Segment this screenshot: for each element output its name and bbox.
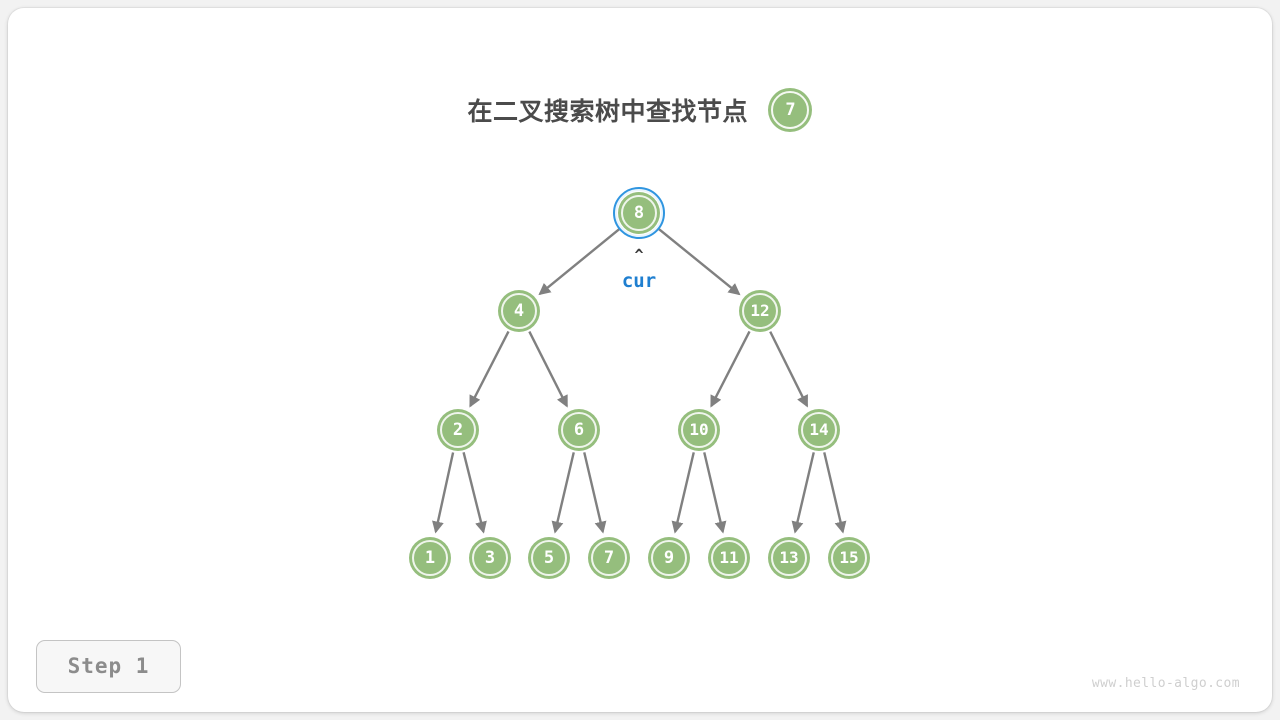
tree-edge <box>436 452 453 531</box>
diagram-canvas: 在二叉搜索树中查找节点 7 841226101413579111315 ^ cu… <box>0 0 1280 720</box>
tree-node-circle <box>469 537 511 579</box>
tree-edge <box>675 452 694 531</box>
tree-node: 10 <box>678 409 720 451</box>
page-title-text: 在二叉搜索树中查找节点 <box>468 97 749 126</box>
step-badge-label: Step 1 <box>37 641 180 692</box>
tree-edge <box>795 452 814 531</box>
tree-edge <box>704 452 723 531</box>
site-watermark: www.hello-algo.com <box>1000 676 1240 691</box>
tree-node: 1 <box>409 537 451 579</box>
tree-node-circle <box>798 409 840 451</box>
step-badge: Step 1 <box>36 640 181 693</box>
tree-node-circle <box>739 290 781 332</box>
target-value-badge: 7 <box>768 88 812 132</box>
tree-node-circle <box>618 192 660 234</box>
tree-node-circle <box>708 537 750 579</box>
tree-node-circle <box>828 537 870 579</box>
tree-edge <box>770 332 807 406</box>
tree-node-circle <box>558 409 600 451</box>
tree-edge <box>470 331 508 406</box>
tree-node-circle <box>409 537 451 579</box>
tree-node: 12 <box>739 290 781 332</box>
cur-caret: ^ <box>619 246 659 264</box>
tree-node: 15 <box>828 537 870 579</box>
cur-pointer-label: cur <box>609 270 669 292</box>
tree-edge <box>657 227 739 294</box>
tree-edge <box>584 452 603 531</box>
tree-node: 6 <box>558 409 600 451</box>
page-title: 在二叉搜索树中查找节点 7 <box>0 88 1280 132</box>
tree-node-circle <box>768 537 810 579</box>
tree-edge <box>824 452 843 531</box>
tree-node: 3 <box>469 537 511 579</box>
tree-node-circle <box>437 409 479 451</box>
tree-node-circle <box>528 537 570 579</box>
tree-node: 4 <box>498 290 540 332</box>
tree-node: 9 <box>648 537 690 579</box>
target-value-label: 7 <box>768 88 812 132</box>
tree-edge <box>711 331 749 406</box>
tree-node-circle <box>588 537 630 579</box>
tree-edge <box>464 452 484 532</box>
tree-node-circle <box>498 290 540 332</box>
tree-node: 11 <box>708 537 750 579</box>
tree-node: 5 <box>528 537 570 579</box>
tree-node-circle <box>678 409 720 451</box>
tree-edge <box>555 452 574 531</box>
tree-node: 14 <box>798 409 840 451</box>
tree-edge <box>529 332 566 406</box>
tree-node-circle <box>648 537 690 579</box>
tree-node: 2 <box>437 409 479 451</box>
tree-node: 8 <box>618 192 660 234</box>
tree-node: 13 <box>768 537 810 579</box>
tree-node: 7 <box>588 537 630 579</box>
